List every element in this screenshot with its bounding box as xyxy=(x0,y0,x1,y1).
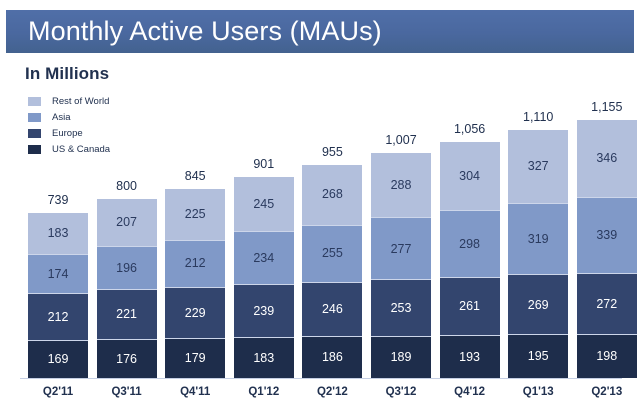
bar-group[interactable]: 1,007288277253189 xyxy=(371,133,431,378)
bar-stack: 245234239183 xyxy=(234,177,294,378)
x-axis-tick-label: Q2'11 xyxy=(28,386,88,398)
bar-stack: 207196221176 xyxy=(97,199,157,378)
bar-total-label: 845 xyxy=(165,169,225,183)
bar-segment-value: 179 xyxy=(185,352,206,365)
bar-segment[interactable]: 193 xyxy=(440,335,500,378)
bar-total-label: 901 xyxy=(234,157,294,171)
bar-group[interactable]: 1,155346339272198 xyxy=(577,100,637,378)
bar-segment-value: 253 xyxy=(391,302,412,315)
bar-segment[interactable]: 298 xyxy=(440,210,500,277)
x-axis-tick-label: Q1'12 xyxy=(234,386,294,398)
bar-segment-value: 246 xyxy=(322,303,343,316)
bar-segment[interactable]: 277 xyxy=(371,217,431,279)
bar-segment[interactable]: 189 xyxy=(371,336,431,378)
bar-segment[interactable]: 319 xyxy=(508,203,568,274)
bar-segment-value: 174 xyxy=(48,268,69,281)
bar-segment-value: 212 xyxy=(185,257,206,270)
bar-group[interactable]: 845225212229179 xyxy=(165,169,225,378)
bar-segment-value: 189 xyxy=(391,351,412,364)
bar-segment-value: 225 xyxy=(185,208,206,221)
bar-segment-value: 269 xyxy=(528,299,549,312)
bar-group[interactable]: 739183174212169 xyxy=(28,193,88,378)
bar-segment[interactable]: 212 xyxy=(28,293,88,340)
bar-segment-value: 304 xyxy=(459,170,480,183)
bar-group[interactable]: 1,110327319269195 xyxy=(508,110,568,378)
bar-segment[interactable]: 174 xyxy=(28,254,88,293)
bar-segment[interactable]: 183 xyxy=(28,213,88,254)
bar-segment[interactable]: 221 xyxy=(97,289,157,338)
bar-segment-value: 196 xyxy=(116,262,137,275)
bar-segment[interactable]: 288 xyxy=(371,153,431,217)
bar-segment[interactable]: 229 xyxy=(165,287,225,338)
bar-total-label: 1,110 xyxy=(508,110,568,124)
bar-stack: 327319269195 xyxy=(508,130,568,378)
bar-segment-value: 198 xyxy=(596,350,617,363)
bar-segment[interactable]: 272 xyxy=(577,273,637,334)
bar-segment-value: 319 xyxy=(528,233,549,246)
bar-segment[interactable]: 339 xyxy=(577,197,637,273)
bar-segment-value: 169 xyxy=(48,353,69,366)
bar-group[interactable]: 955268255246186 xyxy=(302,145,362,378)
bar-total-label: 800 xyxy=(97,179,157,193)
bar-stack: 346339272198 xyxy=(577,120,637,378)
bar-segment-value: 239 xyxy=(253,305,274,318)
bar-segment-value: 186 xyxy=(322,351,343,364)
bar-segment[interactable]: 234 xyxy=(234,231,294,283)
bar-segment-value: 212 xyxy=(48,311,69,324)
bar-segment[interactable]: 255 xyxy=(302,225,362,282)
bar-segment-value: 327 xyxy=(528,160,549,173)
bar-stack: 183174212169 xyxy=(28,213,88,378)
bar-segment-value: 234 xyxy=(253,252,274,265)
x-axis-tick-label: Q3'12 xyxy=(371,386,431,398)
bar-segment-value: 255 xyxy=(322,247,343,260)
bar-segment-value: 277 xyxy=(391,243,412,256)
bar-segment-value: 195 xyxy=(528,350,549,363)
bar-total-label: 739 xyxy=(28,193,88,207)
bar-segment[interactable]: 225 xyxy=(165,189,225,239)
bar-segment-value: 272 xyxy=(596,298,617,311)
bar-total-label: 1,155 xyxy=(577,100,637,114)
bar-segment-value: 346 xyxy=(596,152,617,165)
bar-segment[interactable]: 212 xyxy=(165,240,225,287)
bar-stack: 268255246186 xyxy=(302,165,362,378)
bar-segment-value: 183 xyxy=(48,227,69,240)
bar-segment[interactable]: 261 xyxy=(440,277,500,335)
bar-segment[interactable]: 268 xyxy=(302,165,362,225)
x-axis-tick-label: Q2'13 xyxy=(577,386,637,398)
bar-group[interactable]: 1,056304298261193 xyxy=(440,122,500,378)
bar-segment-value: 193 xyxy=(459,351,480,364)
x-axis-tick-label: Q1'13 xyxy=(508,386,568,398)
bar-segment[interactable]: 346 xyxy=(577,120,637,197)
bar-segment[interactable]: 186 xyxy=(302,336,362,378)
bar-segment[interactable]: 196 xyxy=(97,246,157,290)
bar-segment-value: 229 xyxy=(185,307,206,320)
bar-segment-value: 183 xyxy=(253,352,274,365)
bar-segment[interactable]: 207 xyxy=(97,199,157,245)
bar-segment[interactable]: 183 xyxy=(234,337,294,378)
bar-total-label: 1,007 xyxy=(371,133,431,147)
bar-segment-value: 288 xyxy=(391,179,412,192)
bar-segment[interactable]: 239 xyxy=(234,284,294,337)
bar-segment-value: 221 xyxy=(116,308,137,321)
x-axis-tick-label: Q3'11 xyxy=(97,386,157,398)
bar-segment[interactable]: 269 xyxy=(508,274,568,334)
bar-segment-value: 261 xyxy=(459,300,480,313)
bar-segment-value: 339 xyxy=(596,229,617,242)
bar-segment[interactable]: 179 xyxy=(165,338,225,378)
bar-segment-value: 268 xyxy=(322,188,343,201)
bar-segment[interactable]: 169 xyxy=(28,340,88,378)
bar-group[interactable]: 800207196221176 xyxy=(97,179,157,378)
bar-segment[interactable]: 253 xyxy=(371,279,431,336)
bar-segment[interactable]: 327 xyxy=(508,130,568,203)
bar-stack: 304298261193 xyxy=(440,142,500,378)
chart-plot-area: 739183174212169Q2'11800207196221176Q3'11… xyxy=(0,0,640,406)
bar-group[interactable]: 901245234239183 xyxy=(234,157,294,378)
bar-segment-value: 298 xyxy=(459,238,480,251)
bar-segment-value: 207 xyxy=(116,216,137,229)
bar-segment[interactable]: 246 xyxy=(302,282,362,337)
bar-segment-value: 176 xyxy=(116,353,137,366)
bar-segment[interactable]: 198 xyxy=(577,334,637,378)
x-axis-tick-label: Q2'12 xyxy=(302,386,362,398)
bar-segment[interactable]: 176 xyxy=(97,339,157,378)
bar-segment[interactable]: 195 xyxy=(508,334,568,378)
bar-total-label: 955 xyxy=(302,145,362,159)
x-axis-tick-label: Q4'11 xyxy=(165,386,225,398)
bar-segment[interactable]: 304 xyxy=(440,142,500,210)
bar-stack: 288277253189 xyxy=(371,153,431,378)
bar-total-label: 1,056 xyxy=(440,122,500,136)
x-axis-tick-label: Q4'12 xyxy=(440,386,500,398)
bar-segment[interactable]: 245 xyxy=(234,177,294,232)
bar-segment-value: 245 xyxy=(253,198,274,211)
bar-stack: 225212229179 xyxy=(165,189,225,378)
